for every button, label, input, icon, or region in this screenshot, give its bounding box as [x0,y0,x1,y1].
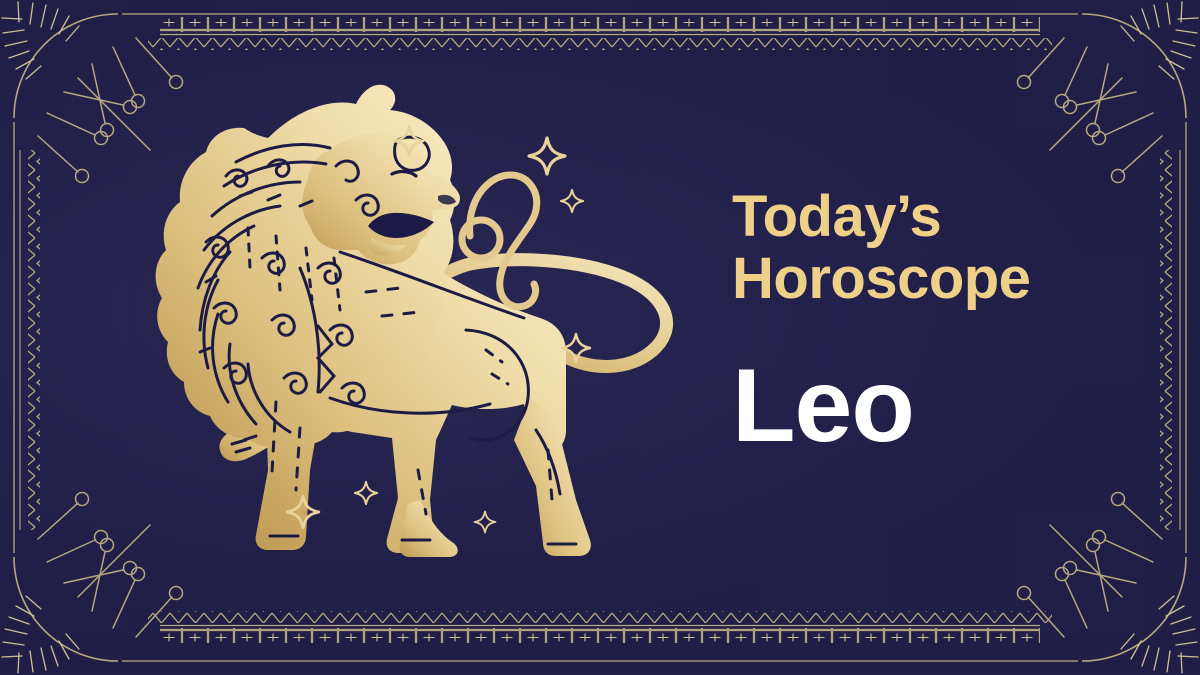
leo-glyph [462,175,537,307]
zodiac-sign-name: Leo [732,354,1162,458]
headline-block: Today’s Horoscope Leo [732,186,1162,458]
star-icon [355,482,377,504]
star-icon [475,512,496,533]
star-icon [529,138,565,174]
page-title-kicker: Today’s Horoscope [732,186,1162,310]
star-icon [561,190,583,212]
horoscope-card: Today’s Horoscope Leo [0,0,1200,675]
lion-illustration [156,85,667,557]
